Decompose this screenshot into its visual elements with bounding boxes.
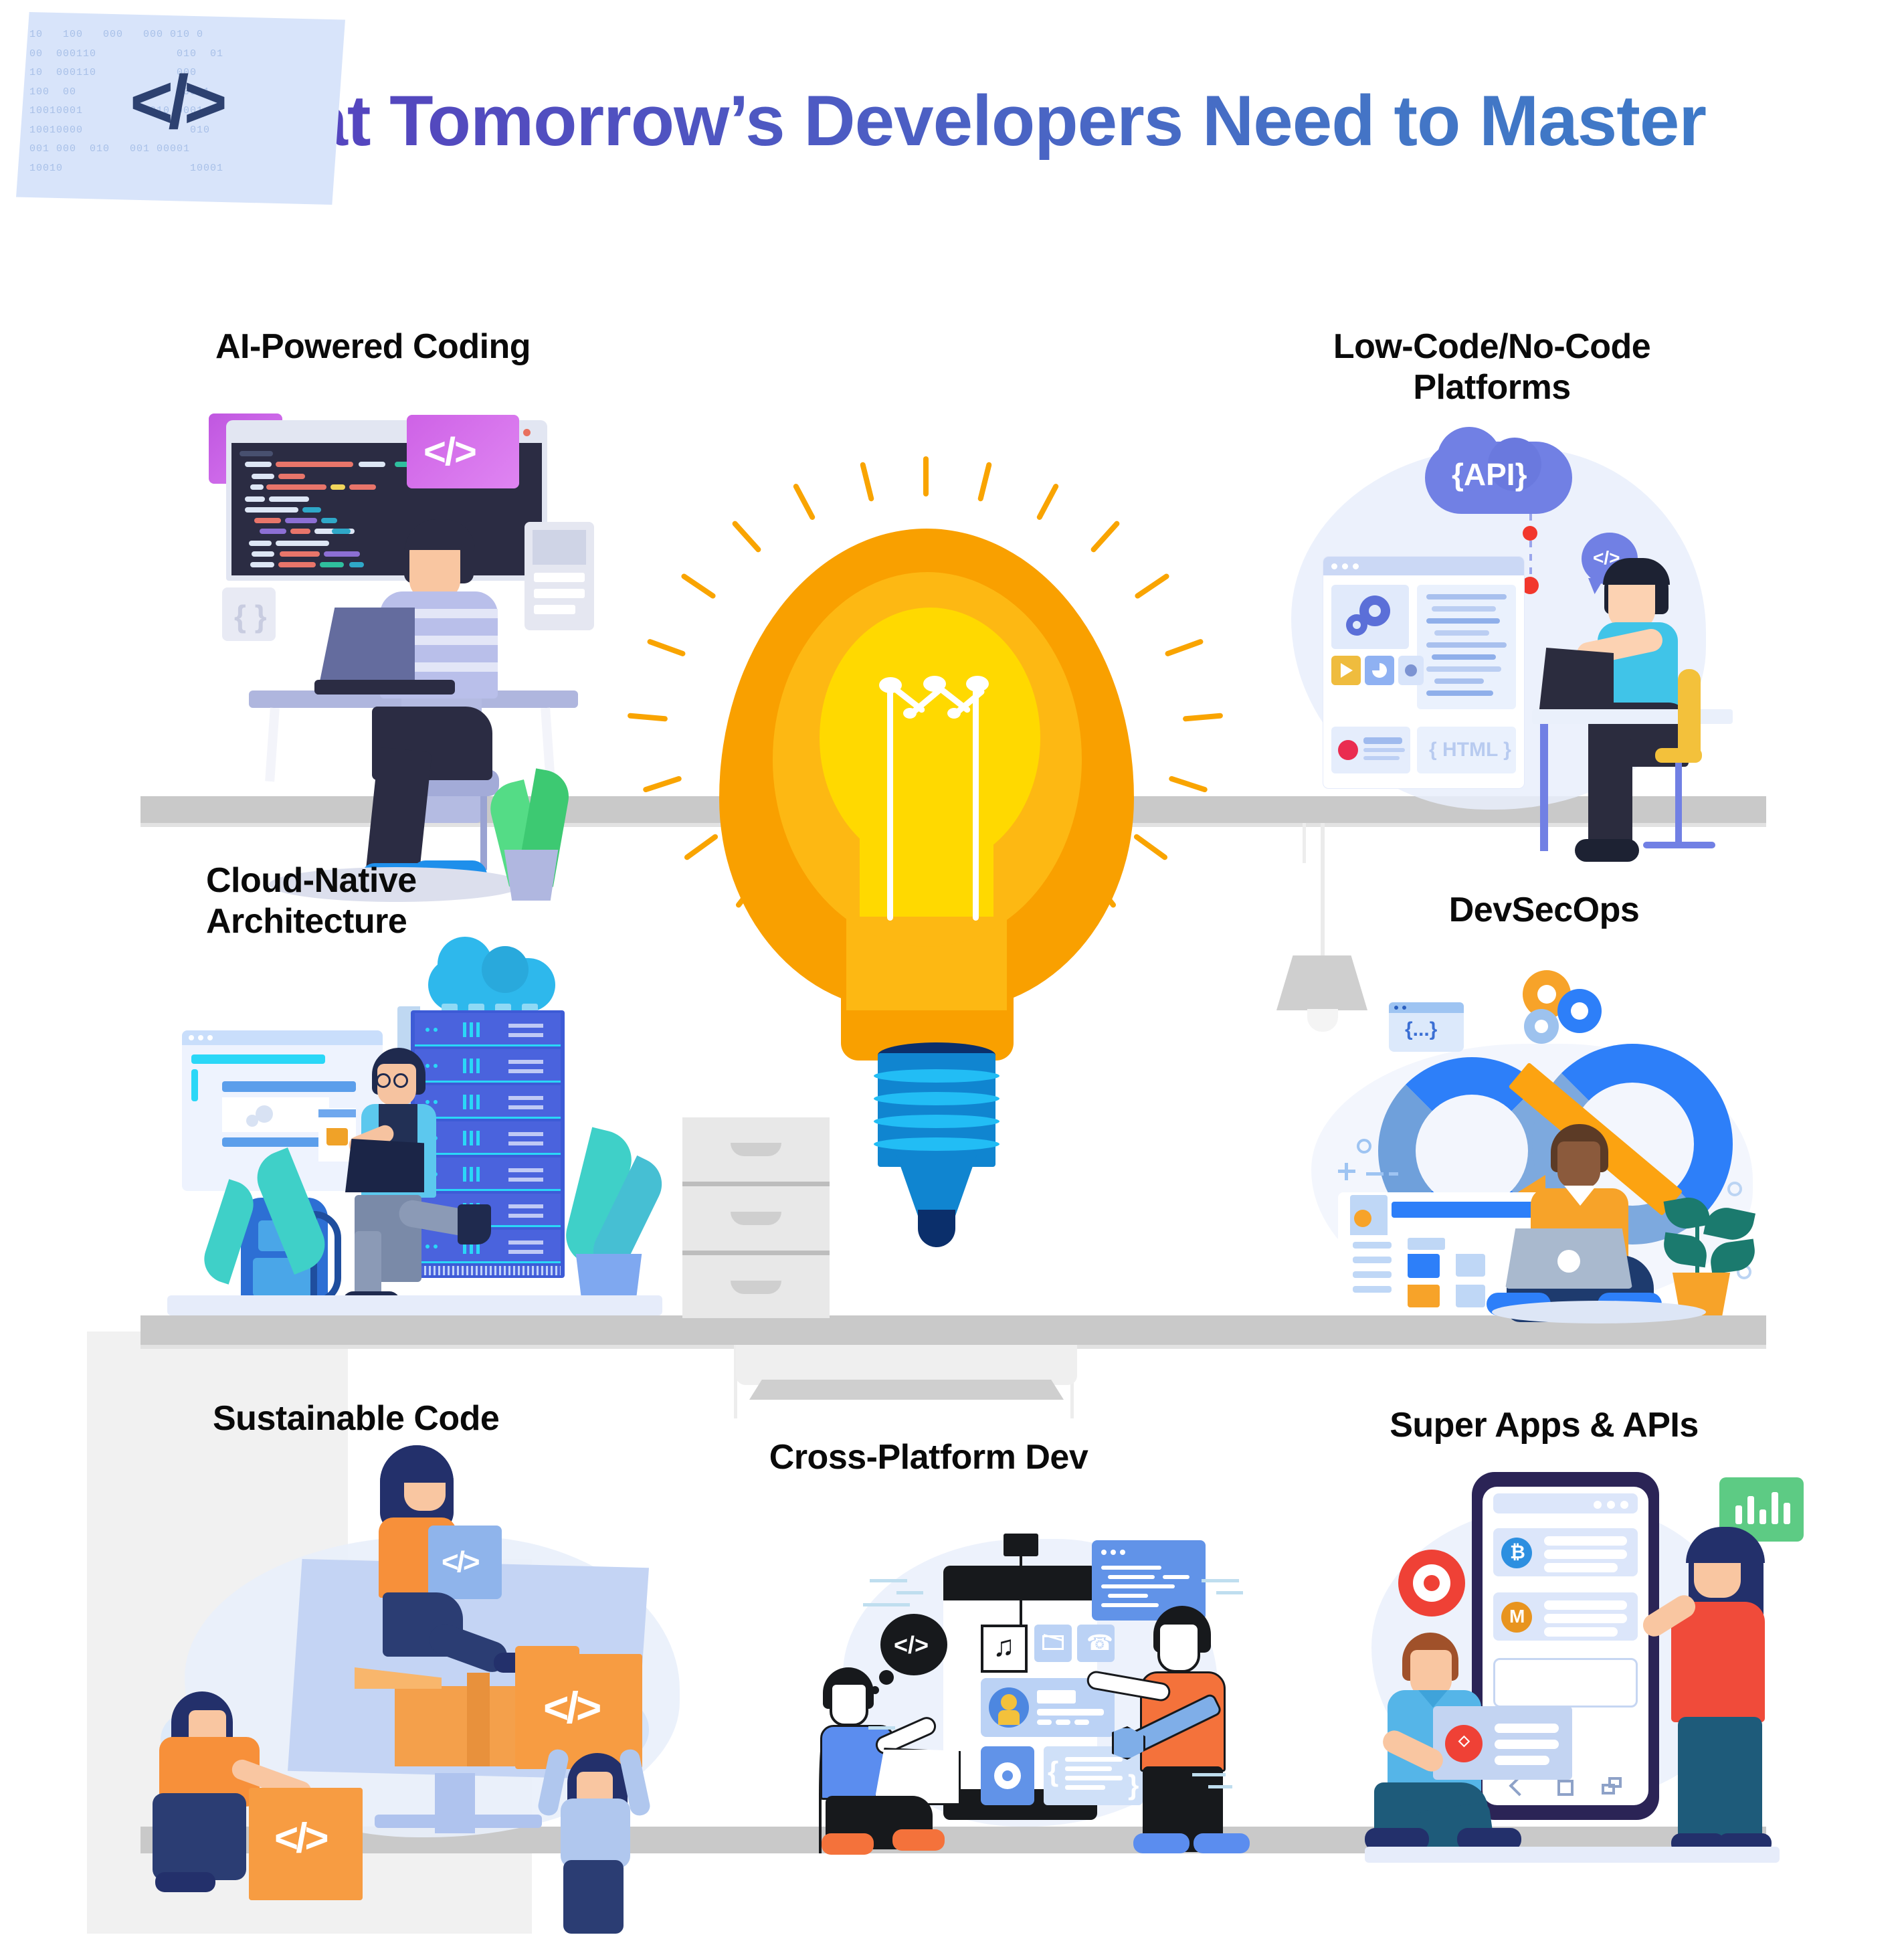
image-placeholder-icon	[533, 530, 586, 565]
sc-person2-shoe	[155, 1872, 215, 1892]
window-dot-red	[523, 429, 531, 436]
bulb-ray	[792, 483, 816, 521]
lnc-laptop	[1539, 648, 1614, 715]
brace-open: {	[1048, 1756, 1058, 1788]
user-icon	[1338, 740, 1358, 760]
brace-glyph: { }	[234, 598, 267, 634]
drawer-1[interactable]	[682, 1117, 830, 1182]
section-label-super-apps: Super Apps & APIs	[1357, 1405, 1731, 1446]
bulb-ray	[628, 713, 668, 721]
sa-empty-card[interactable]	[1493, 1658, 1638, 1708]
drawer-3[interactable]	[682, 1255, 830, 1318]
sa-crypto-row-bitcoin[interactable]: ₿	[1493, 1528, 1638, 1576]
filament-leg-right	[973, 686, 979, 921]
bulb-ray	[646, 638, 686, 657]
phone-icon: ☎	[1086, 1630, 1113, 1655]
cp-mail-tile	[1034, 1625, 1072, 1662]
ethereum-symbol: ⬦	[1458, 1732, 1470, 1750]
code-doc-tile	[1417, 585, 1516, 709]
bulb-tip-contact	[918, 1210, 955, 1247]
cp-stool	[819, 1740, 826, 1853]
monero-symbol: M	[1509, 1606, 1525, 1627]
sa-crypto-row-monero[interactable]: M	[1493, 1592, 1638, 1641]
sa-woman-shirt	[1671, 1602, 1765, 1722]
lnc-desk-top	[1532, 709, 1733, 724]
bulb-ray	[731, 520, 762, 553]
cn-folder-icon	[326, 1128, 348, 1145]
ds-person-face	[1557, 1141, 1600, 1188]
bulb-ray	[1090, 520, 1121, 553]
sa-nav-home[interactable]	[1557, 1780, 1574, 1796]
cp-phone-tile: ☎	[1077, 1625, 1115, 1662]
sc-code-glyph: </>	[130, 59, 222, 145]
pendant-bulb-devsecops	[1307, 1009, 1338, 1032]
pendant-shade-crossplatform	[749, 1380, 1064, 1400]
bulb-ray	[1133, 833, 1168, 861]
lnc-chair-post	[1675, 763, 1682, 843]
drawer-2[interactable]	[682, 1186, 830, 1251]
sc-code-glyph-held: </>	[442, 1546, 478, 1579]
pendant-shade-devsecops	[1276, 955, 1367, 1010]
bulb-thread	[874, 1137, 999, 1151]
lnc-desk-leg	[1540, 724, 1548, 851]
ds-laptop-logo	[1557, 1250, 1580, 1273]
drawer-handle-3[interactable]	[731, 1281, 781, 1294]
section-label-sustainable-code: Sustainable Code	[213, 1398, 628, 1439]
drawer-handle-1[interactable]	[731, 1143, 781, 1156]
sc-monitor-screen: 10 100 000 000 010 0 00 000110 010 01 10…	[16, 12, 345, 205]
gear-tile	[1331, 585, 1409, 649]
bulb-ray	[1134, 573, 1170, 600]
pie-icon-tile	[1365, 656, 1394, 685]
cn-laptop	[345, 1139, 424, 1192]
user-card-tile	[1331, 727, 1410, 773]
bitcoin-symbol: ₿	[1510, 1542, 1525, 1563]
ds-deco-circle	[1727, 1182, 1742, 1196]
ds-deco-circle	[1357, 1139, 1371, 1154]
sa-floor	[1365, 1847, 1780, 1863]
ds-dots-label: {...}	[1405, 1018, 1437, 1041]
lnc-person-leg	[1588, 739, 1632, 851]
sc-person3-legs	[563, 1860, 624, 1934]
section-label-low-code-no-code: Low-Code/No-Code Platforms	[1271, 327, 1713, 409]
lnc-chair-foot	[1643, 842, 1715, 848]
filament-leg-left	[887, 686, 893, 921]
drawer-handle-2[interactable]	[731, 1212, 781, 1225]
pendant-cord-devsecops	[1321, 823, 1325, 957]
cp-person2-shoe-a	[1133, 1833, 1189, 1853]
cp-person1-shoe-a	[892, 1829, 945, 1851]
html-tile: { HTML }	[1417, 727, 1516, 773]
shelf-divider-right	[1303, 823, 1306, 863]
ds-check-icon	[1354, 1210, 1371, 1227]
cp-gear-tile	[981, 1746, 1034, 1805]
bulb-ray	[680, 573, 717, 600]
bulb-ray	[860, 462, 874, 502]
sc-person3-shirt	[561, 1799, 630, 1868]
ds-folder-light	[1456, 1285, 1485, 1307]
drawer-cabinet	[682, 1117, 830, 1318]
section-label-devsecops: DevSecOps	[1404, 890, 1685, 931]
ds-floor-shadow	[1492, 1301, 1706, 1323]
section-label-cross-platform: Cross-Platform Dev	[741, 1437, 1116, 1478]
pendant-housing-crossplatform	[736, 1345, 1077, 1385]
lnc-chair-seat	[1655, 748, 1702, 763]
lnc-person-shoe	[1575, 839, 1639, 862]
bulb-ray	[642, 775, 682, 793]
ds-folder-orange	[1408, 1285, 1440, 1307]
cn-person-glasses-right	[393, 1073, 408, 1088]
cp-avatar	[989, 1687, 1029, 1728]
laptop-base	[314, 680, 455, 695]
cp-hanger-wire	[1020, 1555, 1022, 1600]
cp-code-glyph: </>	[894, 1631, 929, 1659]
sc-code-glyph-lower: </>	[274, 1815, 326, 1862]
html-label: { HTML }	[1429, 739, 1511, 761]
brace-close: }	[1128, 1769, 1139, 1801]
sa-held-card: ⬦	[1433, 1706, 1572, 1780]
cp-person2-shoe-b	[1194, 1833, 1250, 1853]
music-icon: ♫	[993, 1630, 1015, 1663]
sc-monitor-base	[375, 1815, 542, 1828]
cp-person2-face	[1157, 1622, 1200, 1673]
cp-person1-face	[830, 1682, 868, 1726]
image-placeholder-card	[525, 522, 594, 630]
gear-icon-tile	[1398, 656, 1424, 685]
cp-hanger-top	[1004, 1534, 1038, 1556]
bulb-thread	[874, 1069, 999, 1083]
sa-woman-legs	[1678, 1717, 1762, 1851]
bulb-ray	[1183, 713, 1223, 721]
lnc-chair-back	[1678, 669, 1701, 756]
cn-person-shoe-up	[458, 1204, 491, 1245]
cp-person1-shoe-b	[822, 1833, 874, 1855]
monero-icon: M	[1501, 1602, 1532, 1633]
bulb-ray	[1036, 483, 1059, 521]
api-label: {API}	[1452, 456, 1527, 492]
ui-builder-window: { HTML }	[1323, 557, 1524, 788]
bulb-ray	[683, 833, 719, 861]
bulb-ray	[977, 462, 992, 502]
connector-dot-upper	[1523, 526, 1537, 541]
bulb-glass-inner	[820, 608, 1040, 868]
cn-person-glasses-left	[376, 1073, 391, 1088]
bitcoin-icon: ₿	[1501, 1538, 1532, 1568]
filament-node	[966, 676, 989, 692]
sc-box-seam	[467, 1673, 490, 1766]
bulb-ray	[923, 456, 929, 496]
code-glyph-pink: </>	[423, 430, 476, 474]
bulb-ray	[1164, 638, 1204, 657]
sc-person2-legs	[153, 1793, 246, 1880]
sc-code-glyph-upper: </>	[543, 1682, 599, 1733]
sa-status-row	[1493, 1493, 1638, 1513]
ds-folder-light	[1456, 1254, 1485, 1277]
bulb-ray	[1168, 775, 1208, 793]
bulb-thread	[874, 1092, 999, 1105]
section-label-ai-powered-coding: AI-Powered Coding	[215, 327, 630, 367]
cn-floor	[167, 1295, 662, 1315]
ethereum-icon: ⬦	[1445, 1725, 1483, 1762]
desk-leg-left	[265, 708, 280, 782]
ui-builder-titlebar	[1323, 557, 1524, 575]
chair-leg-b	[480, 796, 487, 870]
bulb-thread	[874, 1115, 999, 1128]
play-icon-tile	[1331, 656, 1361, 685]
cp-music-frame: ♫	[981, 1625, 1028, 1673]
ds-folder-blue	[1408, 1254, 1440, 1278]
infographic-root: { "title": "What Tomorrow’s Developers N…	[0, 0, 1904, 1935]
section-label-cloud-native: Cloud-Native Architecture	[206, 860, 581, 943]
